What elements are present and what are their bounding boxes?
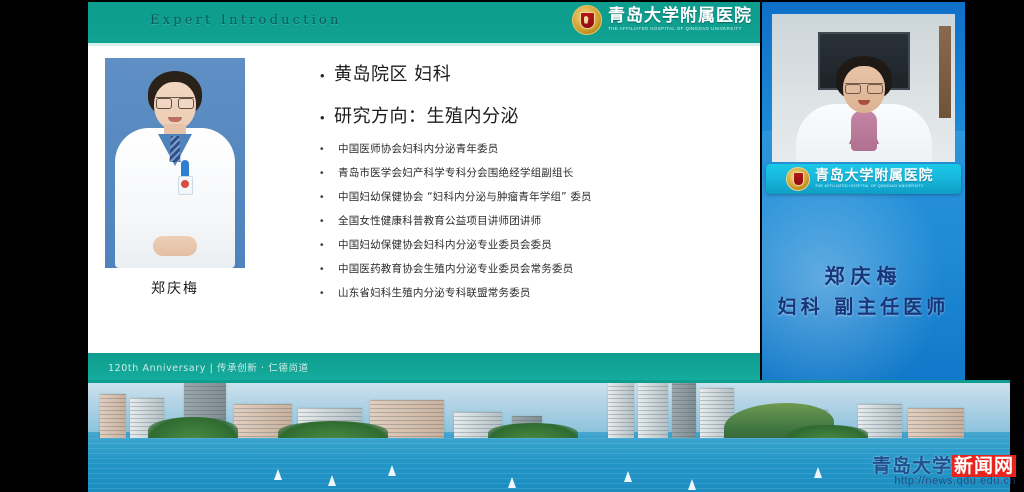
portrait-id-badge <box>178 176 193 195</box>
sailboat-icon <box>508 477 516 488</box>
list-item: • 山东省妇科生殖内分泌专科联盟常务委员 <box>320 288 746 300</box>
sub-bullet-text: 全国女性健康科普教育公益项目讲师团讲师 <box>338 216 541 228</box>
list-item: • 中国医药教育协会生殖内分泌专业委员会常务委员 <box>320 264 746 276</box>
speaker-video-panel: 青岛大学附属医院 THE AFFILIATED HOSPITAL OF QING… <box>762 2 965 380</box>
sailboat-icon <box>688 479 696 490</box>
bullet-marker-icon: • <box>320 192 338 203</box>
presentation-slide: Expert Introduction 青岛大学附属医院 THE AFFILIA… <box>88 2 760 380</box>
portrait-block: 郑庆梅 <box>105 58 245 298</box>
hospital-crest-icon <box>786 167 810 191</box>
list-item: • 中国妇幼保健协会妇科内分泌专业委员会委员 <box>320 240 746 252</box>
bullet-marker-icon: • <box>320 144 338 155</box>
slide-footer-bar: 120th Anniversary | 传承创新 · 仁德尚道 <box>88 353 760 380</box>
panorama-building <box>100 394 126 438</box>
watermark-site-name-news: 新闻网 <box>952 455 1016 477</box>
lower-third-logo-text: 青岛大学附属医院 THE AFFILIATED HOSPITAL OF QING… <box>815 169 933 189</box>
sailboat-icon <box>274 469 282 480</box>
hospital-name-en: THE AFFILIATED HOSPITAL OF QINGDAO UNIVE… <box>815 185 933 189</box>
watermark-url: http://news.qdu.edu.cn <box>872 476 1016 488</box>
list-item: • 中国妇幼保健协会 “妇科内分泌与肿瘤青年学组” 委员 <box>320 192 746 204</box>
sailboat-icon <box>814 467 822 478</box>
slide-bullet-area: • 黄岛院区 妇科 • 研究方向：生殖内分泌 • 中国医师协会妇科内分泌青年委员… <box>320 60 746 312</box>
webcam-scarf <box>851 111 877 151</box>
hospital-name-en: THE AFFILIATED HOSPITAL OF QINGDAO UNIVE… <box>608 27 752 32</box>
sailboat-icon <box>388 465 396 476</box>
bullet-marker-icon: • <box>320 288 338 299</box>
watermark-site-name: 青岛大学新闻网 <box>872 457 1016 477</box>
slide-body: 郑庆梅 • 黄岛院区 妇科 • 研究方向：生殖内分泌 • 中国医师协会妇科内分泌… <box>88 46 760 353</box>
slide-header-title: Expert Introduction <box>150 13 342 28</box>
sub-bullet-list: • 中国医师协会妇科内分泌青年委员 • 青岛市医学会妇产科学专科分会围绝经学组副… <box>320 144 746 300</box>
sailboat-icon <box>328 475 336 486</box>
bullet-marker-icon: • <box>320 68 334 83</box>
slide-header-bar: Expert Introduction 青岛大学附属医院 THE AFFILIA… <box>88 2 760 46</box>
webcam-door-frame <box>939 26 951 118</box>
hospital-logo-text: 青岛大学附属医院 THE AFFILIATED HOSPITAL OF QING… <box>608 8 752 31</box>
hospital-crest-icon <box>572 5 602 35</box>
bullet-marker-icon: • <box>320 110 334 125</box>
doctor-portrait-photo <box>105 58 245 268</box>
speaker-webcam-feed <box>772 14 955 162</box>
portrait-necktie <box>170 136 181 162</box>
sub-bullet-text: 山东省妇科生殖内分泌专科联盟常务委员 <box>338 288 531 300</box>
main-bullet-item: • 黄岛院区 妇科 <box>320 60 746 86</box>
list-item: • 中国医师协会妇科内分泌青年委员 <box>320 144 746 156</box>
bullet-marker-icon: • <box>320 168 338 179</box>
panorama-top-divider <box>88 380 1010 383</box>
hospital-name-cn: 青岛大学附属医院 <box>815 169 933 183</box>
speaker-name-overlay: 郑庆梅 <box>762 260 965 289</box>
sub-bullet-text: 青岛市医学会妇产科学专科分会围绝经学组副组长 <box>338 168 573 180</box>
hospital-logo: 青岛大学附属医院 THE AFFILIATED HOSPITAL OF QING… <box>572 5 752 35</box>
bullet-marker-icon: • <box>320 216 338 227</box>
watermark-site-name-cn: 青岛大学 <box>872 455 952 477</box>
main-bullet-text: 研究方向：生殖内分泌 <box>334 102 519 128</box>
webcam-glasses-icon <box>845 83 883 93</box>
lower-third-hospital-logo: 青岛大学附属医院 THE AFFILIATED HOSPITAL OF QING… <box>766 164 961 194</box>
crest-shield-icon <box>580 12 595 29</box>
screen-root: 青岛大学新闻网 http://news.qdu.edu.cn Expert In… <box>0 0 1024 492</box>
list-item: • 青岛市医学会妇产科学专科分会围绝经学组副组长 <box>320 168 746 180</box>
speaker-title-overlay: 妇科 副主任医师 <box>762 292 965 319</box>
slide-footer-text: 120th Anniversary | 传承创新 · 仁德尚道 <box>108 360 309 374</box>
sub-bullet-text: 中国医师协会妇科内分泌青年委员 <box>338 144 499 156</box>
portrait-caption-name: 郑庆梅 <box>105 278 245 298</box>
panorama-building <box>638 380 668 438</box>
panorama-building <box>608 380 634 438</box>
main-bullet-text: 黄岛院区 妇科 <box>334 60 451 86</box>
sailboat-icon <box>624 471 632 482</box>
panorama-building <box>908 408 964 438</box>
bullet-marker-icon: • <box>320 264 338 275</box>
sub-bullet-text: 中国妇幼保健协会妇科内分泌专业委员会委员 <box>338 240 552 252</box>
portrait-hands <box>153 236 197 256</box>
main-bullet-item: • 研究方向：生殖内分泌 <box>320 102 746 128</box>
portrait-glasses-icon <box>156 97 194 108</box>
news-site-watermark: 青岛大学新闻网 http://news.qdu.edu.cn <box>872 457 1016 488</box>
panorama-building <box>672 380 696 438</box>
sub-bullet-text: 中国医药教育协会生殖内分泌专业委员会常务委员 <box>338 264 573 276</box>
bullet-marker-icon: • <box>320 240 338 251</box>
list-item: • 全国女性健康科普教育公益项目讲师团讲师 <box>320 216 746 228</box>
hospital-name-cn: 青岛大学附属医院 <box>608 8 752 25</box>
sub-bullet-text: 中国妇幼保健协会 “妇科内分泌与肿瘤青年学组” 委员 <box>338 192 592 204</box>
